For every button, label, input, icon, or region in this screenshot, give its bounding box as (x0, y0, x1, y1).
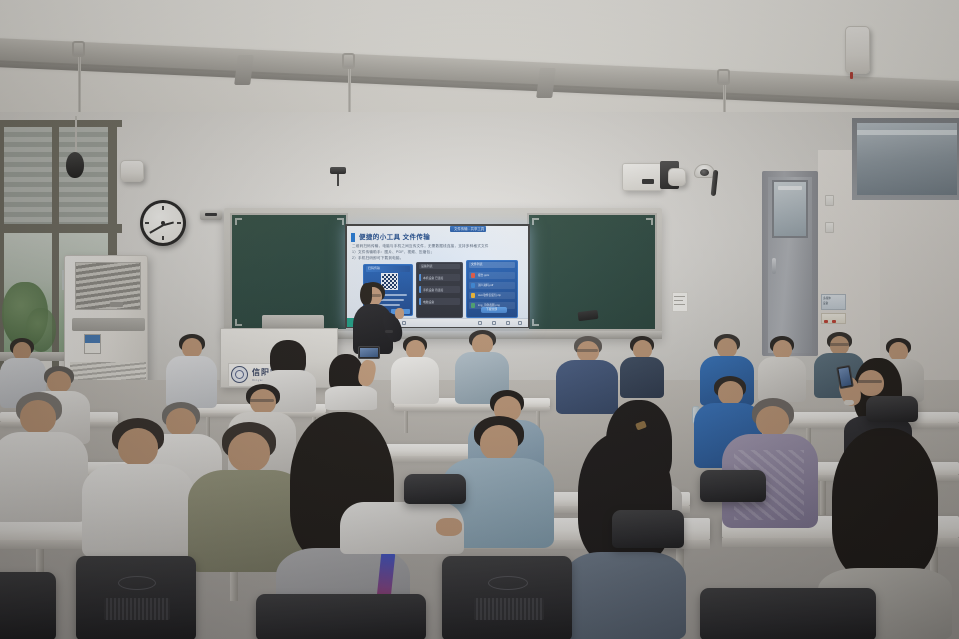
slide-title: 便捷的小工具 文件传输 (359, 231, 430, 241)
chair[interactable] (612, 510, 684, 548)
board-corner-clip (235, 319, 242, 326)
wall-sign-line1: 多媒体 (823, 296, 831, 300)
board-corner-clip (532, 218, 539, 225)
chalkboard-left (230, 213, 348, 331)
clock-tick (177, 222, 181, 224)
chair[interactable] (866, 396, 918, 422)
attendee (82, 418, 194, 558)
glasses (856, 380, 882, 383)
wall-clock (140, 200, 186, 246)
attendee (722, 398, 818, 528)
file-icon (471, 303, 475, 308)
taskbar-icon (518, 321, 522, 325)
wall-speaker-left (120, 160, 144, 182)
clock-tick (145, 222, 149, 224)
file-icon (471, 293, 475, 298)
rod-clip (717, 69, 730, 85)
slide-title-accent (351, 233, 355, 242)
ac-brand-logo (110, 302, 123, 307)
taskbar-icon (478, 321, 482, 325)
file-icon (471, 273, 475, 278)
board-microphone-stem (337, 174, 339, 186)
file-name: 报告.pptx (478, 273, 489, 277)
chair-handle-slot (118, 576, 156, 590)
slide-devices-title: 设备列表 (421, 264, 433, 268)
ac-energy-label (84, 334, 101, 354)
attendee-photographer (325, 342, 381, 410)
presenter-hair-side (360, 283, 372, 305)
slide-panel-qr-title: 扫码传输 (368, 266, 380, 270)
slide-bullet-2: 1）文件传输助手：图片、PDF、视频、压缩包； (352, 250, 434, 255)
wristband (844, 400, 854, 405)
taskbar-icon (402, 321, 406, 325)
board-microphone (330, 167, 346, 174)
slide-files-title: 文件列表 (471, 262, 483, 266)
ac-control-panel[interactable] (72, 318, 145, 331)
plate-button[interactable] (832, 320, 836, 323)
presenter-watch (385, 330, 393, 333)
door-window-light (778, 186, 802, 190)
university-emblem-inner (235, 370, 244, 379)
slide-bullet-1: 二维码扫码传输，电脑与手机之间互传文件，无需数据线连接，支持多种格式文件 (352, 244, 489, 249)
classroom-photo: 便捷的小工具 文件传输 二维码扫码传输，电脑与手机之间互传文件，无需数据线连接，… (0, 0, 959, 639)
hanging-microphone (66, 152, 84, 178)
paper-notice (672, 292, 688, 312)
rod-clip (72, 41, 85, 57)
slide-device-label: 本机设备 已连接 (423, 276, 443, 280)
board-corner-clip (532, 319, 539, 326)
chair[interactable] (0, 572, 56, 639)
file-icon (471, 283, 475, 288)
slide-bullet-3: 2）手机扫码即可下载到电脑。 (352, 256, 404, 261)
slide-window-label: 文件传输 - 共享工具 (454, 226, 484, 231)
door-handle[interactable] (772, 258, 776, 274)
wall-device-vent (205, 213, 217, 216)
glasses (248, 399, 274, 402)
window-blind-upper (4, 127, 52, 224)
board-corner-clip (337, 218, 344, 225)
attendee (620, 336, 664, 398)
ac-grille (75, 262, 141, 310)
rod-clip (342, 53, 355, 69)
projector-vent (642, 179, 654, 184)
hand-on-desk (436, 518, 462, 536)
glasses (829, 343, 849, 346)
slide-download-label: 下载全部 (486, 307, 497, 311)
mic-rod (75, 116, 77, 156)
attendee (391, 336, 439, 404)
wall-speaker-right (668, 168, 686, 186)
taskbar-icon (506, 321, 510, 325)
presenter-hand (395, 308, 404, 319)
chair[interactable] (256, 594, 426, 639)
clock-tick (162, 206, 164, 210)
chair[interactable] (404, 474, 466, 504)
attendee (758, 336, 806, 402)
lectern-monitor (262, 315, 324, 328)
clock-tick (162, 236, 164, 240)
light-switch[interactable] (825, 222, 834, 233)
chair-handle-slot (488, 576, 528, 590)
speaker-indicator-light (850, 72, 853, 79)
clock-center (161, 221, 165, 225)
board-corner-clip (235, 218, 242, 225)
window-blind-upper (59, 127, 108, 224)
phone-screen (360, 348, 378, 357)
window-light-strip (857, 130, 957, 135)
attendee (165, 334, 217, 408)
chair[interactable] (700, 470, 766, 502)
chair[interactable] (700, 588, 876, 639)
plate-button[interactable] (824, 320, 828, 323)
wall-speaker-ceiling (845, 26, 870, 74)
glasses (576, 349, 598, 352)
dome-camera-lens (700, 169, 709, 176)
projector-unit (622, 163, 662, 191)
file-name: 讲义资料.pdf (478, 283, 493, 287)
slide-device-label: 电脑设备 (423, 300, 434, 304)
slide-file-row (469, 272, 515, 279)
light-switch[interactable] (825, 195, 834, 206)
taskbar-icon (492, 321, 496, 325)
board-corner-clip (646, 218, 653, 225)
wall-sign-line2: 设备 (823, 301, 828, 305)
file-name: tool-软件安装包.zip (478, 293, 501, 297)
attendee (0, 392, 88, 522)
slide-device-label: 手机设备 待连接 (423, 288, 443, 292)
